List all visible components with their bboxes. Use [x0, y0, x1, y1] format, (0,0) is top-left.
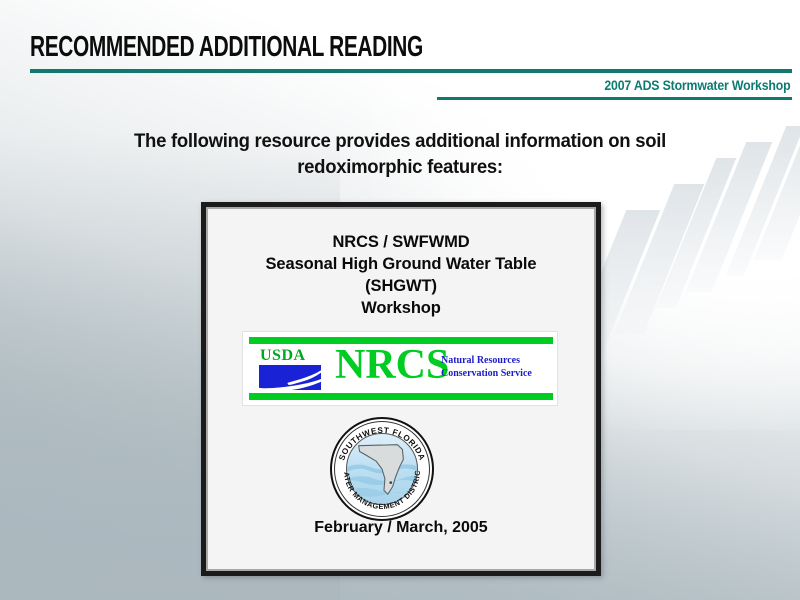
- usda-nrcs-logo: USDA NRCS Natural Resources Conservation…: [242, 331, 558, 406]
- header-rule-bottom: [437, 97, 792, 100]
- card-heading-line-4: Workshop: [208, 297, 594, 319]
- page-title: RECOMMENDED ADDITIONAL READING: [30, 31, 423, 64]
- resource-card-heading: NRCS / SWFWMD Seasonal High Ground Water…: [208, 231, 594, 319]
- usda-mark-icon: USDA: [257, 348, 329, 390]
- nrcs-wordmark: NRCS: [335, 341, 449, 389]
- presentation-slide: RECOMMENDED ADDITIONAL READING 2007 ADS …: [0, 0, 800, 600]
- resource-card-inner-border: NRCS / SWFWMD Seasonal High Ground Water…: [206, 207, 596, 571]
- swfwmd-seal-logo: SOUTHWEST FLORIDA WATER MANAGEMENT DISTR…: [330, 417, 434, 521]
- workshop-label: 2007 ADS Stormwater Workshop: [604, 77, 790, 93]
- card-heading-line-3: (SHGWT): [208, 275, 594, 297]
- header-rule-top: [30, 69, 792, 73]
- seal-arc-top-text: SOUTHWEST FLORIDA: [337, 426, 427, 462]
- workshop-date: February / March, 2005: [208, 519, 594, 537]
- usda-blue-block: [259, 365, 321, 390]
- usda-wordmark: USDA: [260, 347, 306, 365]
- card-heading-line-1: NRCS / SWFWMD: [208, 231, 594, 253]
- card-heading-line-2: Seasonal High Ground Water Table: [208, 253, 594, 275]
- nrcs-subtitle: Natural Resources Conservation Service: [441, 354, 532, 380]
- nrcs-subtitle-line-1: Natural Resources: [441, 354, 532, 367]
- resource-card: NRCS / SWFWMD Seasonal High Ground Water…: [201, 202, 601, 576]
- nrcs-green-bar-bottom: [249, 393, 553, 400]
- intro-line-2: redoximorphic features:: [104, 154, 697, 180]
- nrcs-subtitle-line-2: Conservation Service: [441, 367, 532, 380]
- intro-text: The following resource provides addition…: [104, 128, 697, 180]
- seal-text-ring: SOUTHWEST FLORIDA WATER MANAGEMENT DISTR…: [330, 417, 434, 521]
- intro-line-1: The following resource provides addition…: [104, 128, 697, 154]
- resource-card-body: NRCS / SWFWMD Seasonal High Ground Water…: [208, 209, 594, 569]
